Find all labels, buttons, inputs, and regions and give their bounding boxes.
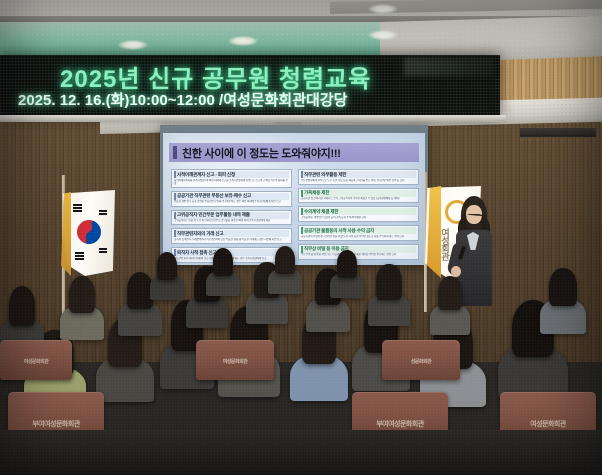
slide-title-bullet	[173, 146, 177, 159]
floor	[0, 430, 602, 475]
slide-item-heading: 사적이해관계자 신고 - 회피 신청	[174, 171, 289, 178]
chair-venue-label: 부여여성문화회관	[352, 419, 448, 429]
ceiling-downlight	[118, 40, 148, 50]
audience-member-head	[438, 276, 462, 310]
slide-item-body: 고위공직자는 임용·위촉 전 3년 이내 민간부문 업무활동 내역을 30일 이…	[174, 219, 289, 222]
chair-venue-label: 부여여성문화회관	[8, 419, 104, 429]
audience-member-head	[337, 250, 357, 278]
slide-item-card: 공공기관 물품등의 사적 사용·수익 금지공공기관이 소유하거나 임차한 물품·…	[298, 225, 419, 241]
slide-item-body: 직무관련자에게 사적으로 노무·조언·자문 등을 제공하고 대가를 받는 행위,…	[301, 179, 416, 182]
audience-member-head	[157, 252, 177, 280]
trigram-gam-2	[99, 213, 107, 215]
ceiling-downlight	[368, 30, 398, 40]
trigram-ri	[99, 248, 107, 250]
trigram-gon-2	[75, 255, 84, 257]
slide-item-card: 고위공직자 민간부문 업무활동 내역 제출고위공직자는 임용·위촉 전 3년 이…	[171, 210, 292, 226]
led-sign-subtitle: 2025. 12. 16.(화)10:00~12:00 /여성문화회관대강당	[18, 89, 488, 110]
trigram-gon	[75, 252, 84, 254]
led-glare	[404, 58, 494, 76]
ceiling-downlight	[228, 36, 258, 46]
slide-item-heading: 공공기관 물품등의 사적 사용·수익 금지	[301, 227, 416, 234]
national-flag-taegukgi	[63, 190, 115, 276]
slide-item-heading: 공공기관 직무관련 부동산 보유·매수 신고	[174, 193, 289, 200]
slide-item-card: 공공기관 직무관련 부동산 보유·매수 신고부동산 개발 업무 등과 관련된 부…	[171, 191, 292, 207]
trigram-gam	[99, 210, 107, 212]
chair-venue-label: 여성문화회관	[500, 419, 596, 429]
seminar-room-photo: 2025년 신규 공무원 청렴교육 2025. 12. 16.(화)10:00~…	[0, 0, 602, 475]
slide-item-heading: 직무관련자와의 거래 신고	[174, 230, 289, 237]
chair-venue-label: 여성문화회관	[196, 358, 274, 365]
slide-right-column: 직무관련 외부활동 제한직무관련자에게 사적으로 노무·조언·자문 등을 제공하…	[298, 169, 419, 263]
audience-member-head	[376, 264, 401, 300]
projection-screen: 친한 사이에 이 정도는 도와줘야지!!! 사적이해관계자 신고 - 회피 신청…	[163, 133, 425, 265]
sign-mount-rail	[0, 115, 506, 122]
trigram-gon-3	[75, 258, 84, 260]
slide-item-card: 사적이해관계자 신고 - 회피 신청사적이해관계자를 알게 되었을 때 14일 …	[171, 169, 292, 188]
audience-member-head	[275, 246, 295, 274]
slide-item-body: 직무수행 중 알게 된 비밀 또는 미공개정보를 이용하여 재물·재산상 이익을…	[301, 253, 416, 256]
chair-back: 여성문화회관	[196, 340, 274, 380]
slide-item-card: 가족채용 제한공공기관 및 산하기관·자회사는 소속 고위공직자의 가족을 채용…	[298, 188, 419, 204]
trigram-geon-3	[73, 210, 82, 212]
chair-back: 성문화회관	[382, 340, 460, 380]
audience-member-head	[213, 248, 233, 276]
slide-item-body: 사적이해관계자를 알게 되었을 때 14일 이내에 신고를 소속기관장에게 서면…	[174, 179, 289, 185]
slide-title-text: 친한 사이에 이 정도는 도와줘야지!!!	[182, 145, 341, 161]
slide-item-heading: 가족채용 제한	[301, 190, 416, 197]
chair-back: 여성문화회관	[0, 340, 72, 380]
trigram-geon	[73, 204, 82, 206]
slide-item-body: 공공기관이 소유하거나 임차한 물품·차량·토지·시설 등을 사적인 용도로 사…	[301, 235, 416, 238]
slide-left-column: 사적이해관계자 신고 - 회피 신청사적이해관계자를 알게 되었을 때 14일 …	[171, 169, 292, 263]
slide-item-card: 직무관련자와의 거래 신고공직자 및 배우자·직계존비속이 직무관련자와 금전·…	[171, 228, 292, 244]
chair-venue-label: 여성문화회관	[0, 358, 72, 365]
slide-item-body: 고위공직자, 계약업무 담당자 등의 가족 등과 수의계약 체결 금지	[301, 216, 416, 219]
slide-item-heading: 직무관련 외부활동 제한	[301, 171, 416, 178]
slide-item-body: 공공기관 및 산하기관·자회사는 소속 고위공직자의 가족을 채용할 수 없음 …	[301, 197, 416, 200]
led-banner-sign: 2025년 신규 공무원 청렴교육 2025. 12. 16.(화)10:00~…	[0, 55, 500, 117]
chair-venue-label: 성문화회관	[382, 358, 460, 365]
audience-member-head	[549, 268, 577, 306]
slide-item-card: 직무관련 외부활동 제한직무관련자에게 사적으로 노무·조언·자문 등을 제공하…	[298, 169, 419, 185]
slide-item-card: 직무상 비밀 등 이용 금지직무수행 중 알게 된 비밀 또는 미공개정보를 이…	[298, 244, 419, 260]
slide-item-body: 부동산 개발 업무 등과 관련된 부동산을 보유하거나 매수하는 경우 14일 …	[174, 200, 289, 203]
slide-content-columns: 사적이해관계자 신고 - 회피 신청사적이해관계자를 알게 되었을 때 14일 …	[171, 169, 419, 263]
slide-item-heading: 직무상 비밀 등 이용 금지	[301, 246, 416, 253]
slide-item-heading: 고위공직자 민간부문 업무활동 내역 제출	[174, 212, 289, 219]
trigram-geon-2	[73, 207, 82, 209]
audience-member-head	[9, 286, 35, 326]
ceiling-downlight	[368, 4, 398, 14]
air-conditioner-vent	[520, 128, 596, 137]
slide-item-card: 수의계약 체결 제한고위공직자, 계약업무 담당자 등의 가족 등과 수의계약 …	[298, 206, 419, 222]
slide-item-heading: 수의계약 체결 제한	[301, 208, 416, 215]
audience-member-head	[69, 276, 95, 313]
flag-gold-fringe	[61, 192, 71, 276]
trigram-ri-2	[99, 251, 107, 253]
slide-item-body: 공직자 및 배우자·직계존비속이 직무관련자와 금전·부동산·물품·용역 등을 …	[174, 238, 289, 241]
slide-title-bar: 친한 사이에 이 정도는 도와줘야지!!!	[169, 143, 419, 162]
